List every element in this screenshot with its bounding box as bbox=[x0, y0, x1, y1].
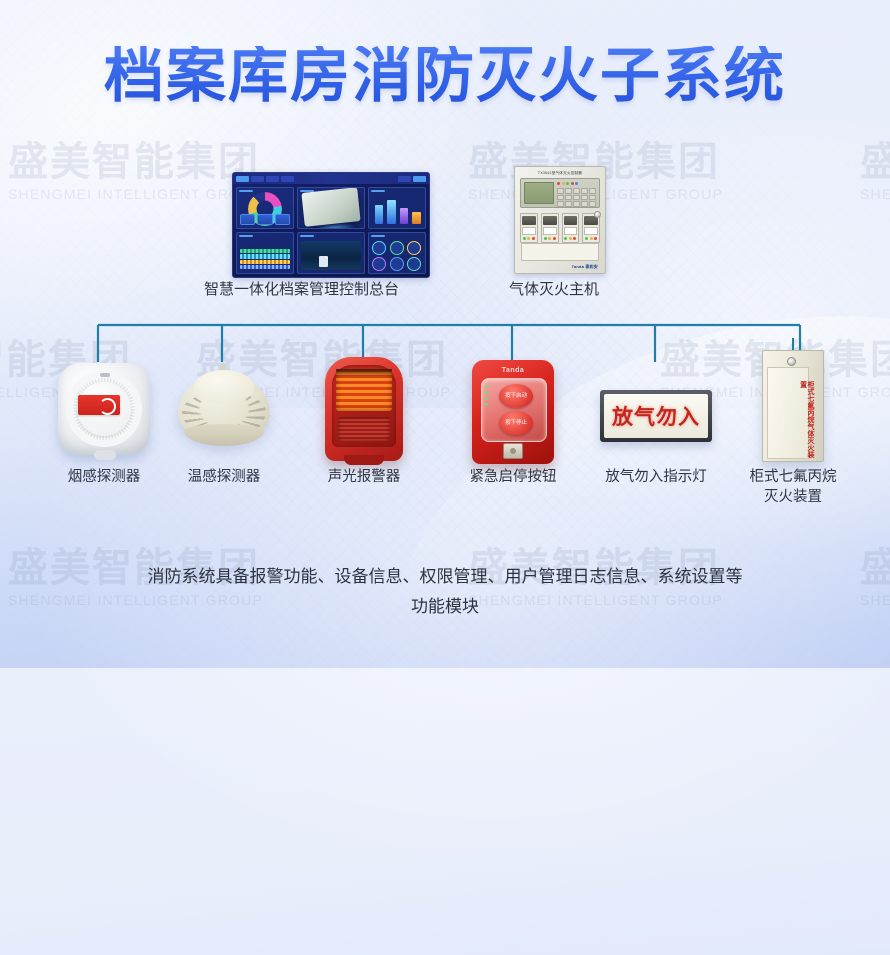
warning-label bbox=[521, 243, 599, 261]
zone-label-strip bbox=[543, 227, 557, 235]
dashboard-tab bbox=[281, 176, 294, 182]
console-image bbox=[232, 172, 428, 276]
alarm-speaker-grille bbox=[338, 417, 390, 441]
led-indicator bbox=[485, 385, 488, 388]
zone-label-strip bbox=[564, 227, 578, 235]
emergency-stop-button[interactable]: 按下停止 bbox=[499, 411, 533, 435]
bar bbox=[375, 205, 384, 224]
device-label-warning-light: 放气勿入指示灯 bbox=[598, 468, 714, 488]
led-indicator bbox=[548, 237, 551, 240]
emergency-button-leds bbox=[485, 385, 488, 406]
keypad-key[interactable] bbox=[573, 201, 580, 207]
device-label-alarm: 声光报警器 bbox=[308, 468, 420, 488]
stat-pill bbox=[275, 214, 290, 225]
keypad-key[interactable] bbox=[573, 188, 580, 194]
watermark-en: SHENGMEI INTELLIGENT GROUP bbox=[8, 182, 263, 207]
keypad-key[interactable] bbox=[589, 201, 596, 207]
alarm-base bbox=[344, 455, 384, 465]
device-label-emergency-button: 紧急启停按钮 bbox=[456, 468, 570, 488]
led-indicator bbox=[532, 237, 535, 240]
dashboard-tab bbox=[398, 176, 411, 182]
gas-panel-lcd-area bbox=[520, 178, 600, 208]
keypad-key[interactable] bbox=[565, 201, 572, 207]
keypad-key[interactable] bbox=[573, 195, 580, 201]
led-indicator bbox=[485, 403, 488, 406]
smoke-detector-red-label bbox=[78, 395, 120, 415]
led-indicator bbox=[544, 237, 547, 240]
stripe-chart bbox=[240, 249, 290, 269]
warning-light-frame: 放气勿入 bbox=[600, 390, 712, 442]
gas-panel-title: TX3642型气体灭火控制器 bbox=[520, 171, 600, 176]
dashboard-camera-panel bbox=[297, 232, 364, 274]
status-icon bbox=[407, 257, 421, 271]
dashboard-tab bbox=[266, 176, 279, 182]
stat-pill bbox=[257, 214, 272, 225]
status-icon bbox=[372, 257, 386, 271]
led-indicator bbox=[566, 182, 569, 185]
bar bbox=[400, 208, 409, 224]
status-icon bbox=[407, 241, 421, 255]
cabinet-text: 柜式七氟丙烷气体灭火装置 bbox=[803, 381, 814, 461]
device-heat-detector bbox=[172, 362, 276, 462]
cabinet-body: 柜式七氟丙烷气体灭火装置 bbox=[762, 350, 824, 462]
heat-detector-top-cap bbox=[194, 370, 254, 404]
footer-caption: 消防系统具备报警功能、设备信息、权限管理、用户管理日志信息、系统设置等 功能模块 bbox=[0, 562, 890, 622]
zone-module-row bbox=[520, 213, 600, 243]
zone-module[interactable] bbox=[541, 213, 559, 243]
led-indicator bbox=[562, 182, 565, 185]
lcd-controls bbox=[557, 182, 596, 204]
led-indicator bbox=[553, 237, 556, 240]
keypad-key[interactable] bbox=[581, 201, 588, 207]
console-label: 智慧一体化档案管理控制总台 bbox=[204, 278, 399, 299]
zone-module[interactable] bbox=[562, 213, 580, 243]
led-indicator bbox=[571, 182, 574, 185]
emergency-button-keylock-icon[interactable] bbox=[503, 443, 523, 459]
status-icon bbox=[372, 241, 386, 255]
status-icon-grid bbox=[372, 241, 422, 270]
gas-host-image: TX3642型气体灭火控制器 bbox=[514, 166, 606, 274]
led-indicator bbox=[564, 237, 567, 240]
cabinet-lock-icon bbox=[787, 357, 796, 366]
panel-lock-icon bbox=[594, 211, 601, 218]
video-feed bbox=[301, 241, 360, 270]
dashboard-gauge-panel bbox=[236, 187, 294, 229]
stat-pill bbox=[240, 214, 255, 225]
led-indicator bbox=[527, 237, 530, 240]
keypad-key[interactable] bbox=[589, 195, 596, 201]
alarm-strobe-lens bbox=[336, 369, 392, 411]
status-icon bbox=[390, 257, 404, 271]
dashboard-status-icons-panel bbox=[368, 232, 426, 274]
smoke-detector-base-tab bbox=[94, 450, 116, 460]
dashboard-topbar bbox=[233, 173, 429, 184]
bar bbox=[387, 200, 396, 224]
keypad-key[interactable] bbox=[565, 195, 572, 201]
keypad-key[interactable] bbox=[581, 195, 588, 201]
dashboard-tab bbox=[251, 176, 264, 182]
device-label-heat: 温感探测器 bbox=[168, 468, 280, 488]
server-model-icon bbox=[301, 187, 360, 227]
led-indicator bbox=[573, 237, 576, 240]
dashboard-3d-model-panel bbox=[297, 187, 364, 229]
led-indicator bbox=[485, 391, 488, 394]
led-indicator bbox=[585, 237, 588, 240]
footer-line-1: 消防系统具备报警功能、设备信息、权限管理、用户管理日志信息、系统设置等 bbox=[0, 562, 890, 592]
gas-panel-brand: Tanda 泰和安 bbox=[572, 264, 598, 270]
led-indicator bbox=[557, 182, 560, 185]
zone-display bbox=[543, 216, 557, 225]
zone-leds bbox=[564, 237, 578, 240]
device-gas-release-warning-light: 放气勿入 bbox=[600, 390, 712, 442]
stripe bbox=[240, 265, 290, 269]
led-indicator bbox=[575, 182, 578, 185]
zone-display bbox=[522, 216, 536, 225]
dashboard-tab bbox=[413, 176, 426, 182]
integrated-archive-management-console-dashboard bbox=[232, 172, 430, 278]
gauge-stat-pills bbox=[240, 214, 290, 225]
keypad-key[interactable] bbox=[589, 188, 596, 194]
device-label-smoke: 烟感探测器 bbox=[48, 468, 160, 488]
device-label-cabinet: 柜式七氟丙烷灭火装置 bbox=[747, 468, 839, 507]
zone-leds bbox=[584, 237, 598, 240]
led-indicator bbox=[590, 237, 593, 240]
emergency-start-button[interactable]: 按下启动 bbox=[499, 384, 533, 408]
zone-label-strip bbox=[522, 227, 536, 235]
emergency-button-brand: Tanda bbox=[472, 367, 554, 374]
stripe bbox=[240, 260, 290, 264]
watermark-cn: 盛美智能集团 bbox=[8, 142, 263, 182]
led-indicator bbox=[569, 237, 572, 240]
device-cabinet-extinguisher: 柜式七氟丙烷气体灭火装置 bbox=[762, 350, 824, 462]
gas-host-label: 气体灭火主机 bbox=[509, 278, 599, 299]
status-icon bbox=[390, 241, 404, 255]
dashboard-stripes-panel bbox=[236, 232, 294, 274]
zone-leds bbox=[522, 237, 536, 240]
stripe bbox=[240, 249, 290, 253]
zone-label-strip bbox=[584, 227, 598, 235]
keypad[interactable] bbox=[557, 188, 596, 207]
device-sound-light-alarm bbox=[325, 357, 403, 465]
led-row bbox=[557, 182, 596, 185]
smoke-detector-led bbox=[100, 373, 110, 377]
keypad-key[interactable] bbox=[565, 188, 572, 194]
device-smoke-detector bbox=[50, 357, 158, 461]
watermark-en: SHENGMEI INTELLIGENT GROUP bbox=[860, 182, 890, 207]
footer-line-2: 功能模块 bbox=[0, 592, 890, 622]
keypad-key[interactable] bbox=[581, 188, 588, 194]
led-indicator bbox=[485, 397, 488, 400]
led-indicator bbox=[523, 237, 526, 240]
zone-display bbox=[564, 216, 578, 225]
dashboard-tab bbox=[236, 176, 249, 182]
watermark: 盛美智能集团 SHENGMEI INTELLIGENT GROUP bbox=[860, 142, 890, 207]
warning-light-text: 放气勿入 bbox=[604, 394, 708, 438]
dashboard-bar-chart-panel bbox=[368, 187, 426, 229]
watermark-cn: 盛美智能集团 bbox=[860, 142, 890, 182]
led-indicator bbox=[594, 237, 597, 240]
heat-detector-base bbox=[184, 424, 264, 446]
emergency-button-cover[interactable]: 按下启动 按下停止 bbox=[481, 378, 547, 442]
keypad-key[interactable] bbox=[557, 188, 564, 194]
zone-module[interactable] bbox=[520, 213, 538, 243]
zone-leds bbox=[543, 237, 557, 240]
page-title: 档案库房消防灭火子系统 bbox=[0, 46, 890, 106]
bar-chart bbox=[375, 197, 421, 224]
stripe bbox=[240, 254, 290, 258]
device-emergency-button[interactable]: Tanda 按下启动 按下停止 bbox=[472, 360, 554, 464]
dashboard-body bbox=[233, 184, 429, 277]
bar bbox=[412, 212, 421, 224]
keypad-key[interactable] bbox=[557, 195, 564, 201]
lcd-screen bbox=[524, 182, 554, 204]
keypad-key[interactable] bbox=[557, 201, 564, 207]
watermark: 盛美智能集团 SHENGMEI INTELLIGENT GROUP bbox=[8, 142, 263, 207]
gas-extinguishing-control-panel: TX3642型气体灭火控制器 bbox=[514, 166, 606, 274]
